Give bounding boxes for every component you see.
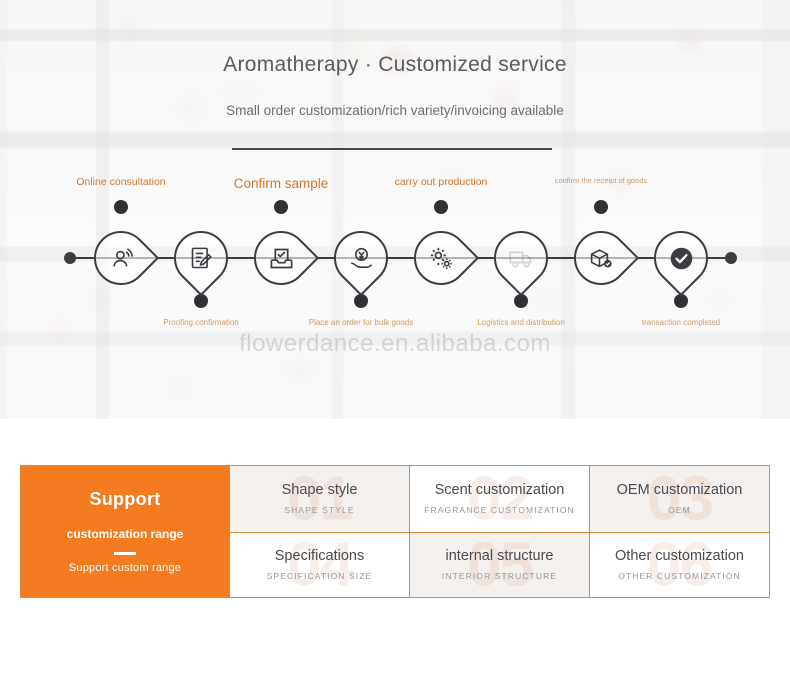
- process-timeline: Online consultation Proofing confirmatio…: [0, 170, 790, 345]
- support-items-grid: 01 Shape style SHAPE STYLE 02 Scent cust…: [229, 466, 769, 597]
- cell-title: Specifications: [275, 548, 364, 564]
- hero-banner: Aromatherapy · Customized service Small …: [0, 0, 790, 419]
- node-tip-dot: [114, 200, 128, 214]
- cell-watermark-number: 04: [287, 532, 352, 598]
- support-item-specifications[interactable]: 04 Specifications SPECIFICATION SIZE: [229, 532, 409, 598]
- cell-subtitle: SHAPE STYLE: [284, 505, 354, 515]
- cell-title: OEM customization: [617, 482, 743, 498]
- banner-title: Aromatherapy · Customized service: [0, 53, 790, 77]
- inbox-check-icon: [254, 231, 308, 285]
- cell-title: Scent customization: [435, 482, 565, 498]
- cell-subtitle: FRAGRANCE CUSTOMIZATION: [424, 505, 575, 515]
- banner-divider-rule: [232, 148, 552, 150]
- cell-watermark-number: 01: [287, 466, 352, 532]
- headset-support-icon: [94, 231, 148, 285]
- site-watermark: flowerdance.en.alibaba.com: [0, 330, 790, 358]
- support-item-internal-structure[interactable]: 05 internal structure INTERIOR STRUCTURE: [409, 532, 589, 598]
- cell-watermark-number: 05: [467, 532, 532, 598]
- support-item-other-customization[interactable]: 06 Other customization OTHER CUSTOMIZATI…: [589, 532, 769, 598]
- timeline-node-transaction-completed[interactable]: transaction completed: [626, 170, 736, 345]
- node-tip-dot: [594, 200, 608, 214]
- check-circle-filled-icon: [654, 231, 708, 285]
- support-item-oem-customization[interactable]: 03 OEM customization OEM: [589, 466, 769, 532]
- node-label: transaction completed: [591, 318, 771, 328]
- gears-icon: [414, 231, 468, 285]
- document-edit-icon: [174, 231, 228, 285]
- support-item-shape-style[interactable]: 01 Shape style SHAPE STYLE: [229, 466, 409, 532]
- cell-subtitle: OEM: [668, 505, 691, 515]
- support-heading: Support: [89, 489, 160, 510]
- support-note: Support custom range: [69, 562, 181, 574]
- node-tip-dot: [274, 200, 288, 214]
- cell-title: internal structure: [446, 548, 554, 564]
- cell-watermark-number: 02: [467, 466, 532, 532]
- cell-title: Shape style: [282, 482, 358, 498]
- banner-subtitle: Small order customization/rich variety/i…: [0, 103, 790, 118]
- cell-watermark-number: 03: [647, 466, 712, 532]
- node-tip-dot: [434, 200, 448, 214]
- cell-watermark-number: 06: [647, 532, 712, 598]
- support-heading-panel: Support customization range Support cust…: [21, 466, 229, 597]
- cell-subtitle: INTERIOR STRUCTURE: [442, 571, 557, 581]
- support-customization-table: Support customization range Support cust…: [20, 465, 770, 598]
- cell-subtitle: OTHER CUSTOMIZATION: [618, 571, 741, 581]
- cell-subtitle: SPECIFICATION SIZE: [267, 571, 373, 581]
- banner-content: Aromatherapy · Customized service Small …: [0, 0, 790, 419]
- yen-in-hand-icon: [334, 231, 388, 285]
- support-subheading: customization range: [67, 527, 184, 541]
- cell-title: Other customization: [615, 548, 744, 564]
- package-check-icon: [574, 231, 628, 285]
- support-item-scent-customization[interactable]: 02 Scent customization FRAGRANCE CUSTOMI…: [409, 466, 589, 532]
- delivery-truck-icon: [494, 231, 548, 285]
- support-divider: [114, 552, 136, 555]
